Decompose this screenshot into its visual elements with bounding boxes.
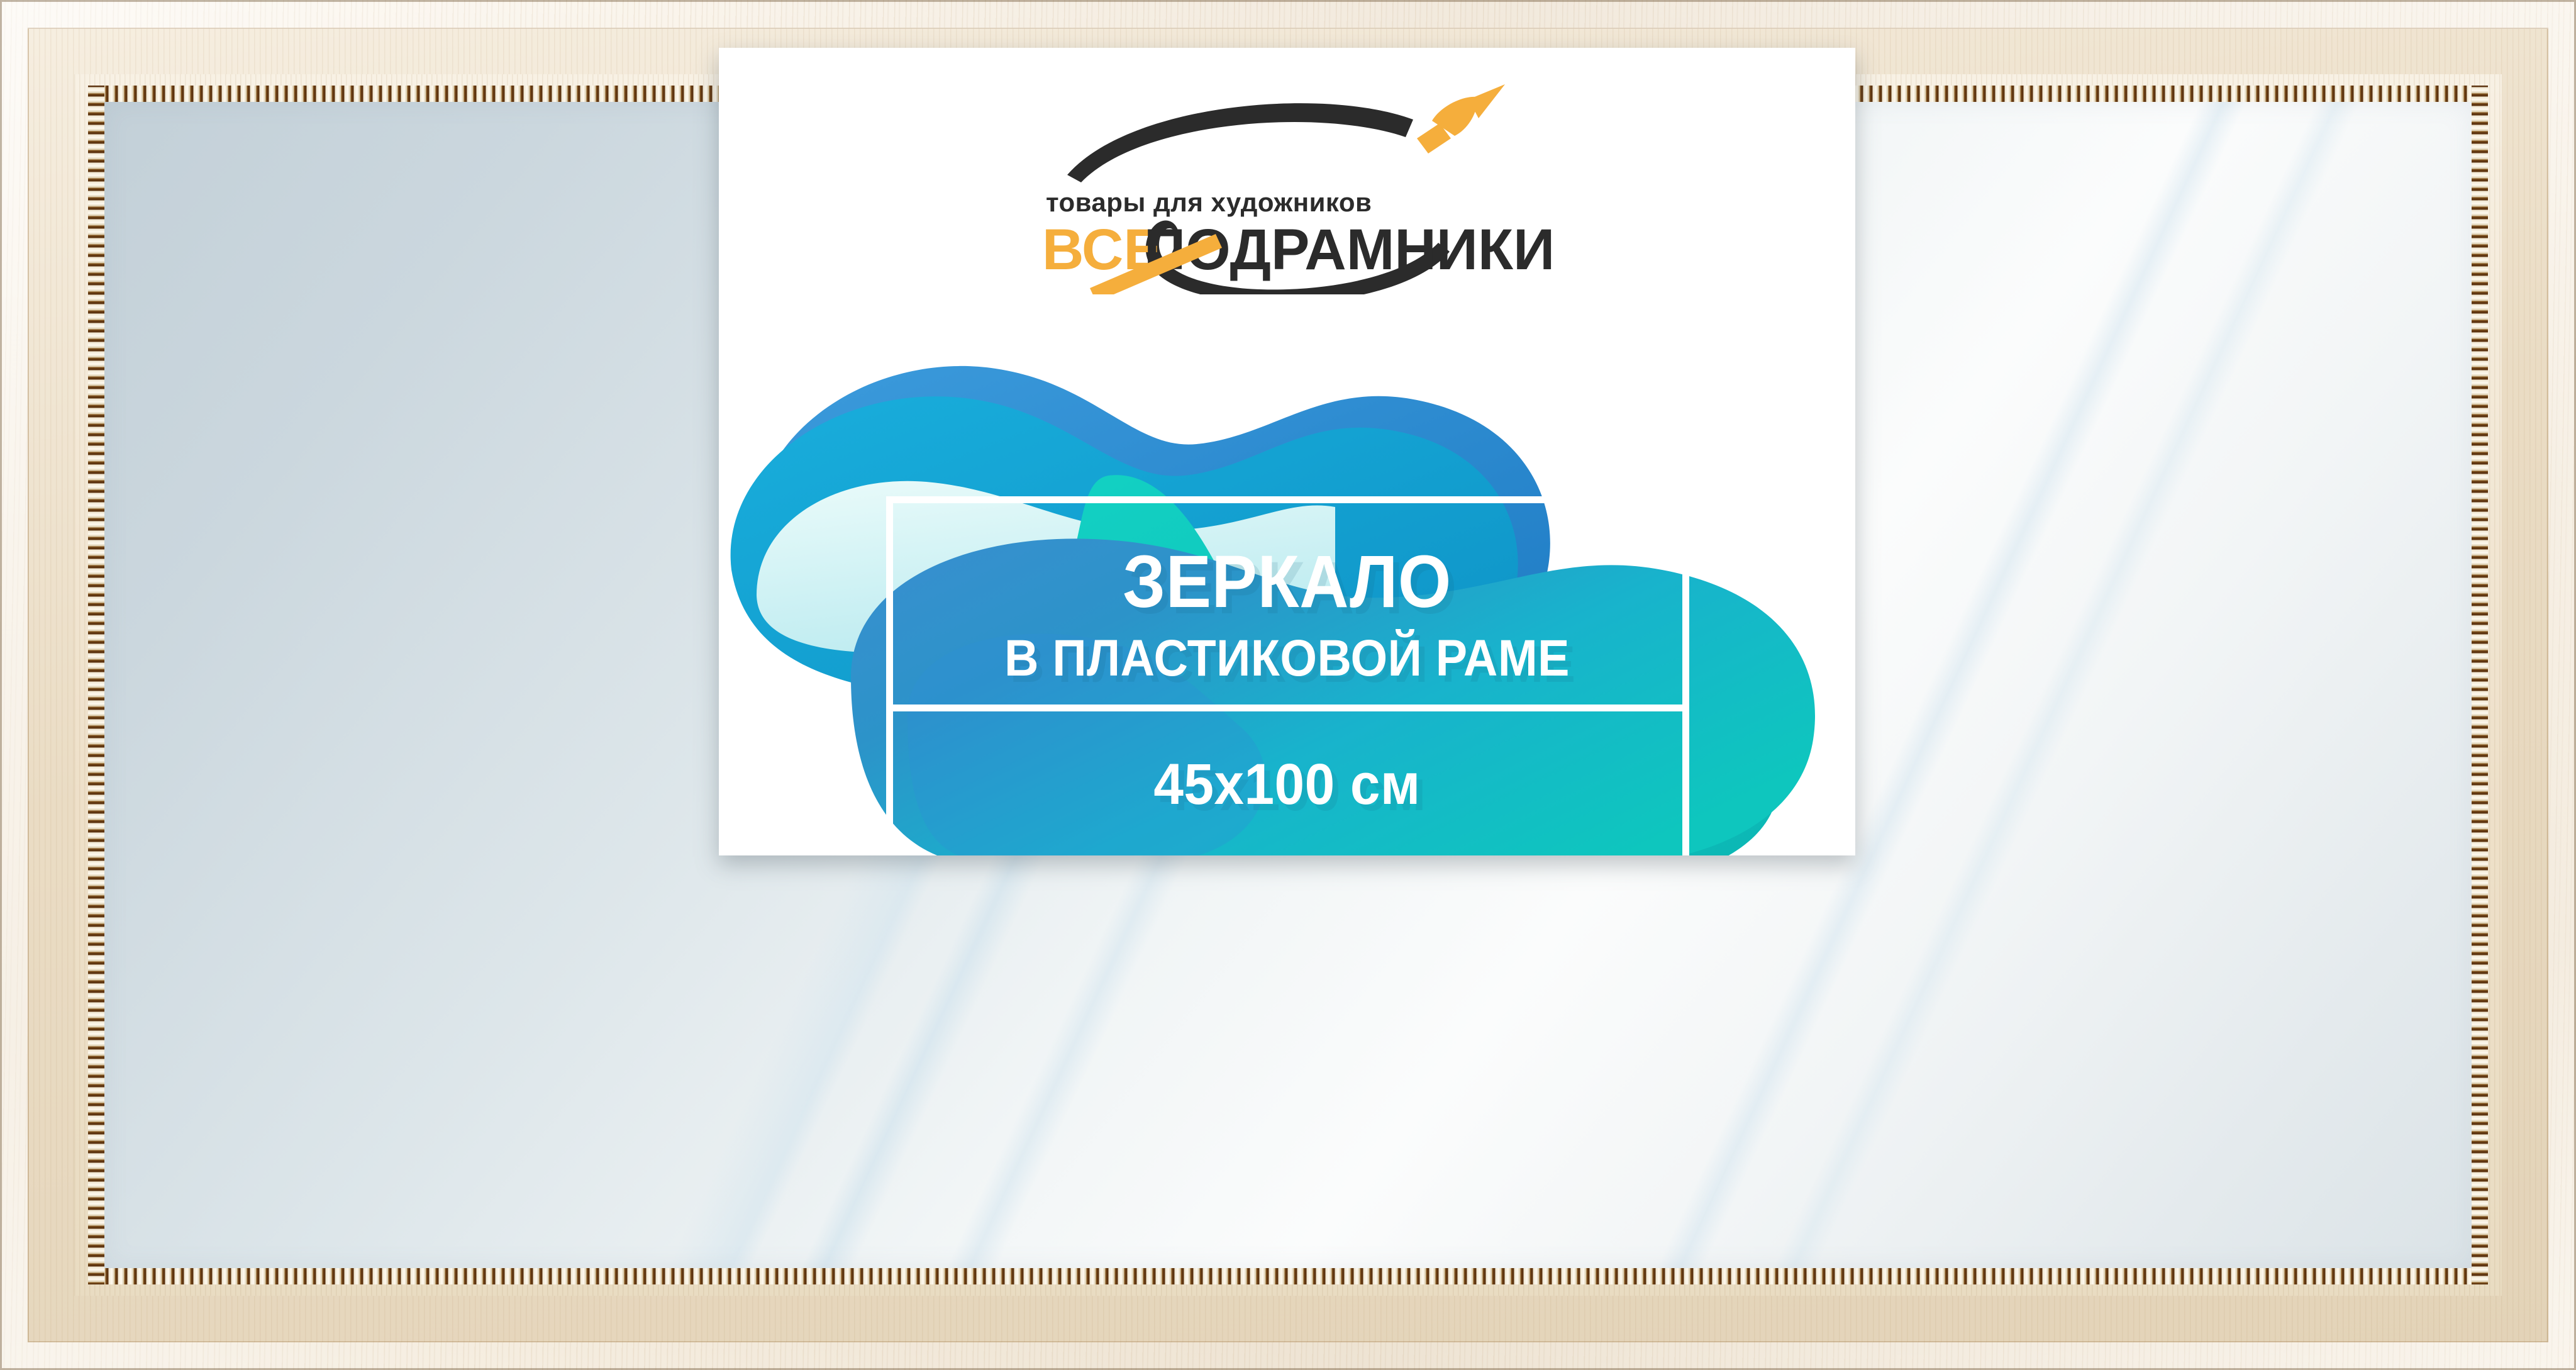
text-box-divider [886,704,1689,711]
logo-tagline: товары для художников [1046,187,1372,217]
paintbrush-icon [1417,84,1505,153]
brand-logo-svg: товары для художников ВСЕ ПОДРАМНИКИ [973,81,1602,294]
product-label-card: товары для художников ВСЕ ПОДРАМНИКИ [719,48,1855,855]
product-subtitle: В ПЛАСТИКОВОЙ РАМЕ [764,633,1809,684]
product-image: товары для художников ВСЕ ПОДРАМНИКИ [0,0,2576,1370]
product-title: ЗЕРКАЛО [764,545,1809,619]
brand-logo: товары для художников ВСЕ ПОДРАМНИКИ [719,81,1855,294]
product-size: 45x100 см [758,755,1816,813]
frame-beading-bottom [88,1268,2488,1284]
frame-beading-right [2472,86,2488,1284]
frame-beading-left [88,86,104,1284]
swoosh-arc-top-icon [1067,103,1413,182]
